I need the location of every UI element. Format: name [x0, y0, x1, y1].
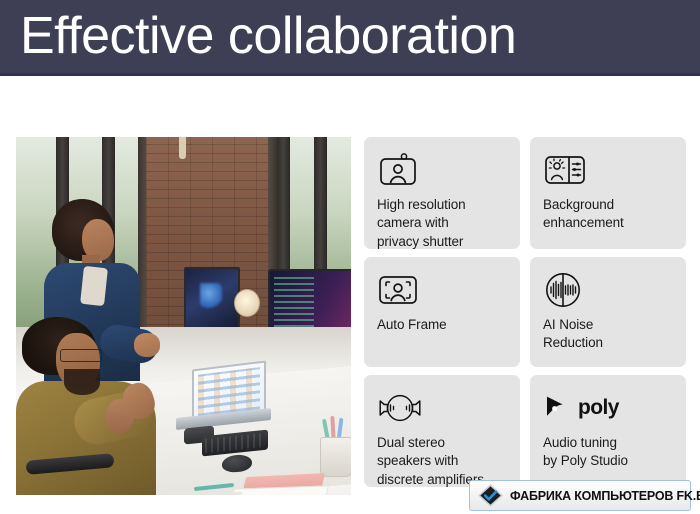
feature-card-label: AI Noise Reduction — [543, 316, 673, 353]
feature-card-auto-frame[interactable]: Auto Frame — [364, 257, 520, 367]
ai-noise-reduction-icon — [543, 271, 673, 309]
photo-scene — [16, 137, 351, 495]
feature-card-label: High resolution camera with privacy shut… — [377, 196, 507, 251]
auto-frame-icon — [377, 271, 507, 309]
feature-card-label: Background enhancement — [543, 196, 673, 233]
diamond-check-icon — [477, 483, 504, 508]
watermark-text: ФАБРИКА КОМПЬЮТЕРОВ FK.BY — [510, 489, 700, 503]
monitor-left — [184, 267, 240, 333]
content-area: High resolution camera with privacy shut… — [0, 79, 700, 514]
eyeglasses — [60, 349, 102, 362]
feature-card-ai-noise-reduction[interactable]: AI Noise Reduction — [530, 257, 686, 367]
watermark-badge: ФАБРИКА КОМПЬЮТЕРОВ FK.BY — [469, 480, 691, 511]
collaboration-photo — [16, 137, 351, 495]
man-beard — [64, 369, 100, 395]
desk-lamp — [234, 289, 260, 317]
dual-stereo-speakers-icon — [377, 389, 507, 427]
pen-cup — [320, 437, 351, 477]
feature-card-background-enhancement[interactable]: Background enhancement — [530, 137, 686, 249]
woman-inner-top — [80, 266, 108, 306]
feature-card-dual-stereo-speakers[interactable]: Dual stereo speakers with discrete ampli… — [364, 375, 520, 487]
page-header: Effective collaboration — [0, 0, 700, 76]
feature-card-high-resolution-camera[interactable]: High resolution camera with privacy shut… — [364, 137, 520, 249]
poly-brand-lockup: poly — [543, 389, 673, 427]
feature-card-grid: High resolution camera with privacy shut… — [364, 137, 686, 487]
background-enhancement-icon — [543, 151, 673, 189]
camera-privacy-shutter-icon — [377, 151, 507, 189]
woman-hand — [134, 333, 160, 357]
feature-card-label: Auto Frame — [377, 316, 507, 334]
page-title: Effective collaboration — [20, 9, 516, 61]
feature-card-audio-tuning-poly[interactable]: poly Audio tuning by Poly Studio — [530, 375, 686, 487]
poly-wordmark: poly — [578, 396, 619, 420]
feature-card-label: Audio tuning by Poly Studio — [543, 434, 673, 471]
poly-logo-icon — [543, 392, 571, 425]
pendant-lamp — [179, 137, 186, 159]
